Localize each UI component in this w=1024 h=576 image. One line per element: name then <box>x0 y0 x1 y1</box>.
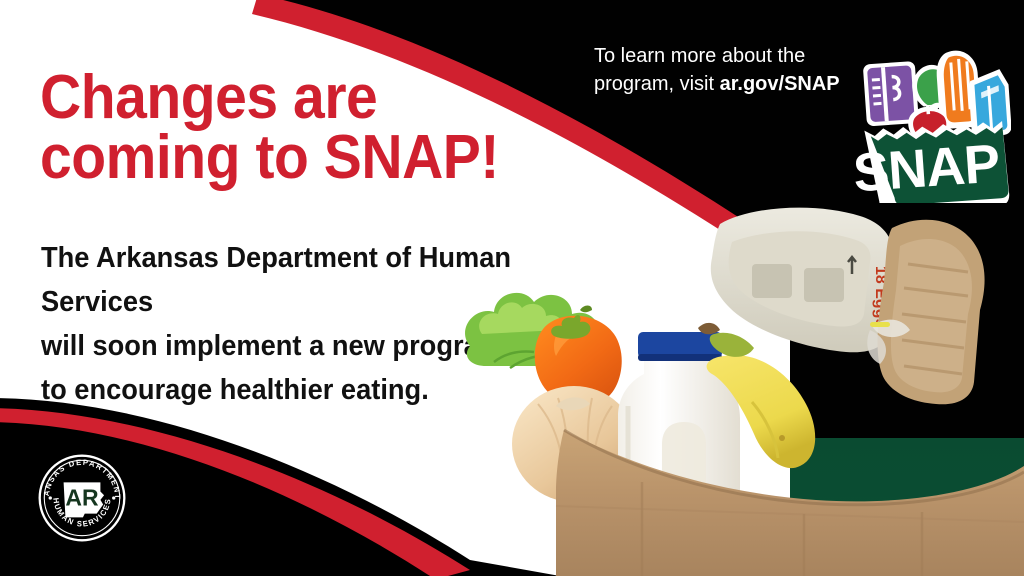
snap-website-url[interactable]: ar.gov/SNAP <box>720 73 840 95</box>
headline-line-2: coming to SNAP! <box>40 128 518 188</box>
learn-more-text: To learn more about the program, visit a… <box>594 43 860 98</box>
grocery-bag-illustration: 18 Eggs <box>452 206 1024 576</box>
dhs-seal-icon: ARKANSAS DEPARTMENT OF HUMAN SERVICES AR <box>36 452 128 544</box>
snap-announcement-poster: Changes are coming to SNAP! The Arkansas… <box>0 0 1024 576</box>
snap-logo-icon: SNAP <box>851 28 1011 203</box>
learn-more-line-2-prefix: program, visit <box>594 73 720 95</box>
learn-more-line-1: To learn more about the <box>594 45 805 67</box>
snap-logo: SNAP <box>851 28 1011 203</box>
page-title: Changes are coming to SNAP! <box>40 68 518 187</box>
bag-tie-icon <box>870 322 890 327</box>
dhs-seal: ARKANSAS DEPARTMENT OF HUMAN SERVICES AR <box>36 452 128 544</box>
seal-center-text: AR <box>65 484 99 510</box>
snap-wordmark-text: SNAP <box>851 133 1001 203</box>
egg-carton-icon: 18 Eggs <box>711 208 894 353</box>
grocery-bag-image: 18 Eggs <box>452 206 1024 576</box>
headline-line-1: Changes are <box>40 63 377 132</box>
